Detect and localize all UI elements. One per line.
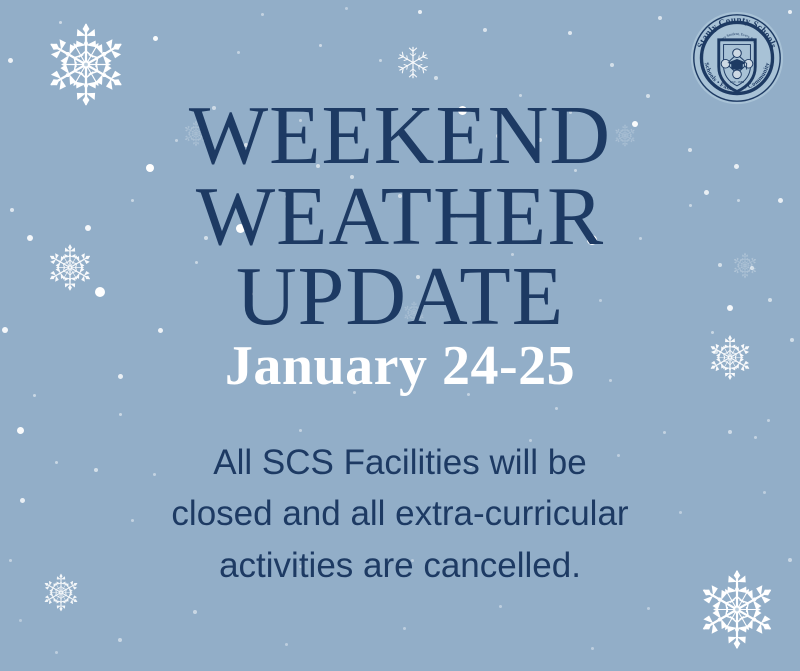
weather-update-poster: Stanly County Schools Schools • Families… <box>0 0 800 671</box>
snow-dot <box>610 63 614 67</box>
snow-dot <box>319 44 322 47</box>
snow-dot <box>663 431 666 434</box>
snow-dot <box>767 419 770 422</box>
snow-dot <box>17 427 24 434</box>
snow-dot <box>483 28 487 32</box>
snow-dot <box>555 407 558 410</box>
snow-dot <box>153 36 158 41</box>
snow-dot <box>299 429 302 432</box>
snowflake-icon <box>393 43 433 88</box>
headline-line-2: WEATHER <box>0 177 800 258</box>
page-title: WEEKEND WEATHER UPDATE <box>0 96 800 338</box>
stanly-county-schools-logo: Stanly County Schools Schools • Families… <box>689 10 785 106</box>
snow-dot <box>434 76 438 80</box>
snow-dot <box>9 559 12 562</box>
snow-dot <box>788 10 792 14</box>
snowflake-icon <box>39 571 83 620</box>
logo-established-text: EST. 1889 <box>730 80 744 84</box>
headline-line-3: UPDATE <box>0 257 800 338</box>
snow-dot <box>499 605 502 608</box>
snow-dot <box>754 436 757 439</box>
snow-dot <box>403 627 406 630</box>
snow-dot <box>237 51 240 54</box>
snow-dot <box>193 610 197 614</box>
snow-dot <box>763 491 766 494</box>
snow-dot <box>418 10 422 14</box>
snow-dot <box>658 16 662 20</box>
snow-dot <box>59 21 62 24</box>
snow-dot <box>285 643 288 646</box>
headline-line-1: WEEKEND <box>0 96 800 177</box>
snow-dot <box>647 607 650 610</box>
announcement-body: All SCS Facilities will be closed and al… <box>100 437 700 591</box>
snow-dot <box>379 59 382 62</box>
snow-dot <box>55 461 58 464</box>
snow-dot <box>19 619 22 622</box>
date-subtitle: January 24-25 <box>0 338 800 394</box>
body-line-3: activities are cancelled. <box>100 540 700 591</box>
snow-dot <box>20 498 25 503</box>
snow-dot <box>728 430 732 434</box>
snow-dot <box>591 647 594 650</box>
snow-dot <box>345 7 348 10</box>
snow-dot <box>261 13 264 16</box>
snow-dot <box>94 468 98 472</box>
snow-dot <box>8 58 13 63</box>
snow-dot <box>55 651 58 654</box>
body-line-1: All SCS Facilities will be <box>100 437 700 488</box>
snowflake-icon <box>691 564 783 661</box>
snow-dot <box>118 638 122 642</box>
snow-dot <box>119 413 122 416</box>
snow-dot <box>788 558 792 562</box>
body-line-2: closed and all extra-curricular <box>100 488 700 539</box>
snow-dot <box>568 31 572 35</box>
